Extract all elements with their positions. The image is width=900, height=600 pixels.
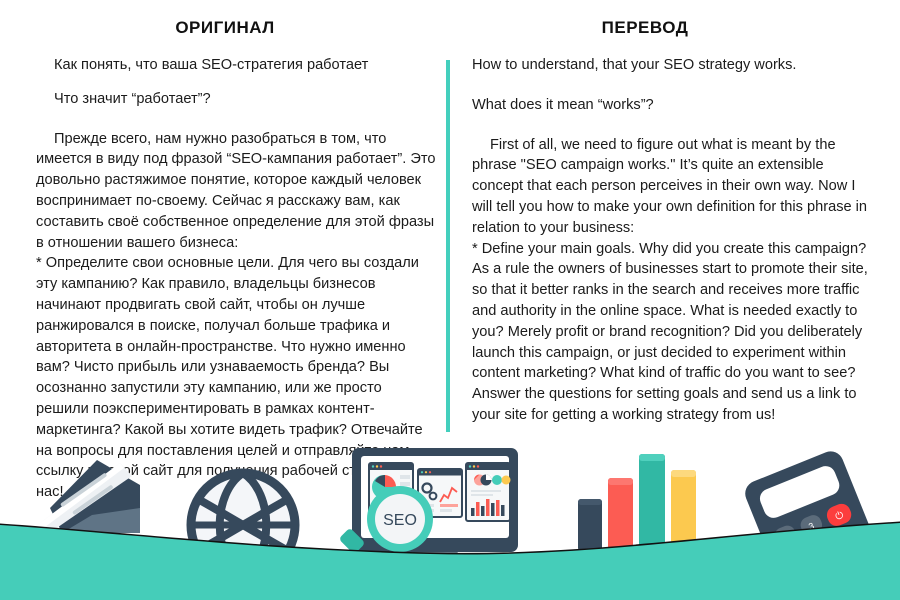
page-title-original: ОРИГИНАЛ: [60, 18, 390, 38]
original-paragraph-1: Прежде всего, нам нужно разобраться в то…: [36, 129, 436, 254]
translation-line-1: How to understand, that your SEO strateg…: [472, 55, 872, 76]
translation-paragraph-1: First of all, we need to figure out what…: [472, 135, 872, 239]
envelope-icon: [36, 460, 140, 534]
dashboard-panel-bars: [466, 463, 511, 521]
original-line-1: Как понять, что ваша SEO-стратегия работ…: [36, 55, 436, 76]
text-column-translation: How to understand, that your SEO strateg…: [472, 55, 872, 426]
original-line-2: Что значит “работает”?: [36, 89, 436, 110]
column-divider: [446, 60, 450, 432]
bar-chart-icon: [578, 454, 696, 551]
translation-line-2: What does it mean “works”?: [472, 95, 872, 116]
bottom-illustration: SEO: [0, 430, 900, 600]
magnifier-label: SEO: [383, 512, 417, 529]
page-title-translation: ПЕРЕВОД: [480, 18, 810, 38]
poster-root: ОРИГИНАЛ ПЕРЕВОД Как понять, что ваша SE…: [0, 0, 900, 600]
translation-paragraph-2: * Define your main goals. Why did you cr…: [472, 239, 872, 426]
